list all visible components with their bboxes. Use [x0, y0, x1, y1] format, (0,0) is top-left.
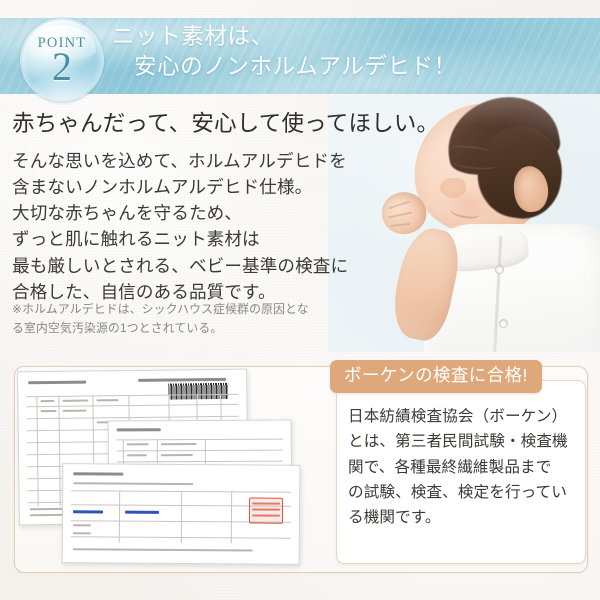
bokken-info-text: 日本紡績検査協会（ボーケン） とは、第三者民間試験・検査機 関で、各種最終繊維製…: [348, 404, 576, 530]
body-copy: そんな思いを込めて、ホルムアルデヒドを 含まないノンホルムアルデヒド仕様。 大切…: [12, 148, 348, 305]
body-line: 大切な赤ちゃんを守るため、: [12, 200, 348, 226]
banner-title-line2: 安心のノンホルムアルデヒド！: [112, 52, 582, 82]
info-line: 日本紡績検査協会（ボーケン）: [348, 404, 576, 429]
footnote-line: ※ホルムアルデヒドは、シックハウス症候群の原因とな: [12, 300, 309, 319]
info-line: 関で、各種最終繊維製品まで: [348, 455, 576, 480]
info-line: とは、第三者民間試験・検査機: [348, 429, 576, 454]
point-number: 2: [52, 49, 72, 86]
body-line: ずっと肌に触れるニット素材は: [12, 226, 348, 252]
certificate-documents: [16, 368, 316, 568]
onesie-button: [500, 320, 507, 327]
advertisement-page: POINT 2 ニット素材は、 安心のノンホルムアルデヒド！ 赤ちゃんだって、安…: [0, 0, 600, 600]
bokken-pass-badge: ボーケンの検査に合格!: [330, 360, 542, 393]
main-headline: 赤ちゃんだって、安心して使ってほしい。: [12, 110, 439, 138]
onesie-button: [496, 266, 503, 273]
certificate-document: [62, 463, 301, 565]
body-line: 含まないノンホルムアルデヒド仕様。: [12, 174, 348, 200]
footnote: ※ホルムアルデヒドは、シックハウス症候群の原因とな る室内空気汚染源の1つとされ…: [12, 300, 309, 338]
info-line: る機関です。: [348, 505, 576, 530]
banner-title-line1: ニット素材は、: [112, 24, 274, 49]
body-line: そんな思いを込めて、ホルムアルデヒドを: [12, 148, 348, 174]
footnote-line: る室内空気汚染源の1つとされている。: [12, 319, 309, 338]
point-emblem-badge: POINT 2: [22, 20, 102, 100]
info-line: の試験、検査、検定を行ってい: [348, 480, 576, 505]
banner-title: ニット素材は、 安心のノンホルムアルデヒド！: [112, 22, 582, 82]
body-line: 最も厳しいとされる、ベビー基準の検査に: [12, 253, 348, 279]
